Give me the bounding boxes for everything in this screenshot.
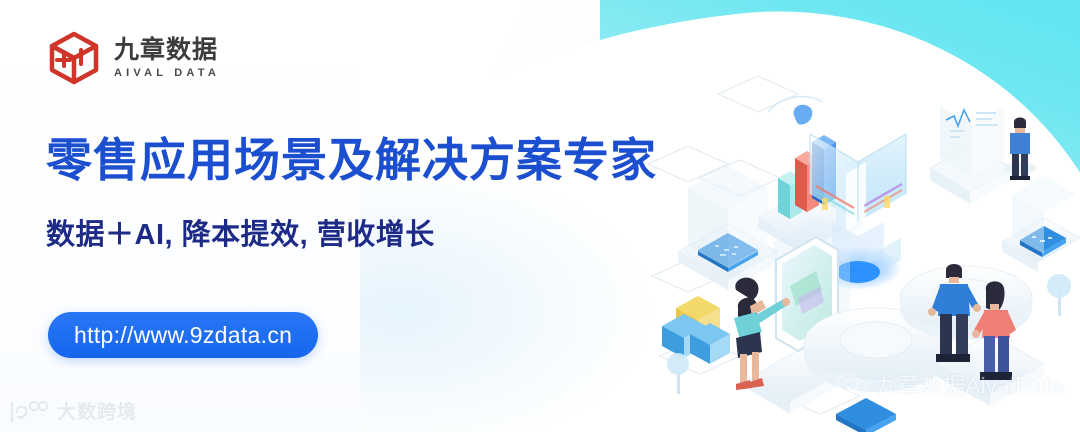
subheadline: 数据＋AI, 降本提效, 营收增长 (46, 211, 435, 253)
watermark-left: 大数跨境 (8, 397, 137, 424)
data-cubes (662, 296, 730, 364)
brand-name-en: AIVAL DATA (114, 67, 220, 79)
watermark-right: 九章数据AivalData (837, 368, 1064, 400)
promo-banner: 九章数据 AIVAL DATA 零售应用场景及解决方案专家 数据＋AI, 降本提… (0, 0, 1080, 432)
website-url-button[interactable]: http://www.9zdata.cn (48, 312, 318, 358)
man-on-stairs (1004, 118, 1036, 181)
ball-pin-right (1047, 274, 1071, 316)
watermark-right-text: 九章数据AivalData (875, 368, 1064, 400)
brand-name-cn: 九章数据 (114, 37, 220, 63)
ball-pin-left (667, 353, 689, 394)
data-tile-right (1002, 176, 1080, 272)
server-panel (930, 88, 1012, 204)
website-url-label: http://www.9zdata.cn (74, 322, 292, 349)
dashujingjing-logo-icon (8, 399, 50, 423)
wechat-icon (837, 371, 867, 397)
watermark-left-text: 大数跨境 (57, 397, 137, 424)
cube-logo-icon (46, 30, 102, 86)
brand-logo-text: 九章数据 AIVAL DATA (114, 37, 220, 78)
brand-logo[interactable]: 九章数据 AIVAL DATA (46, 30, 220, 86)
headline: 零售应用场景及解决方案专家 (46, 124, 657, 190)
floating-blob (768, 97, 822, 125)
